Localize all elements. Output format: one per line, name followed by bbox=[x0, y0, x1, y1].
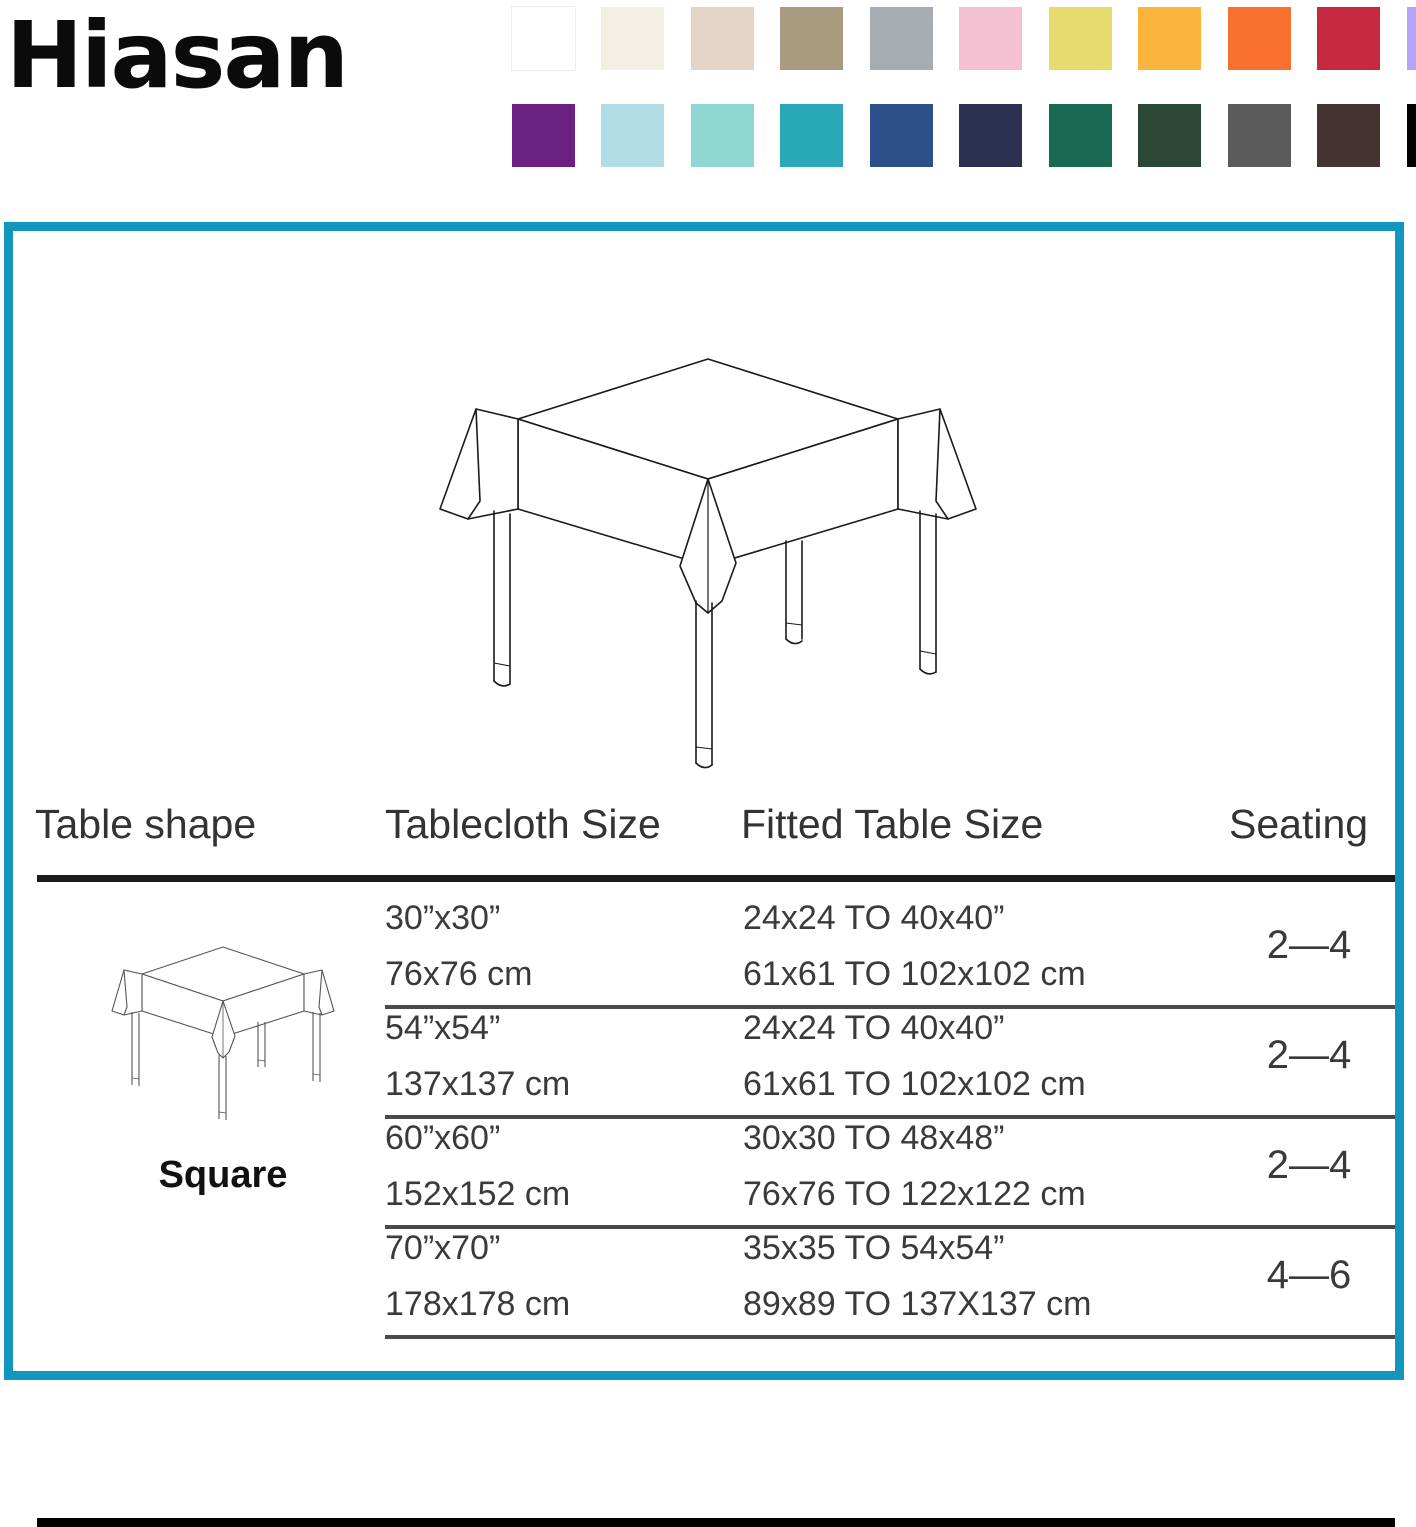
cell-fitted-size-cm: 89x89 TO 137X137 cm bbox=[743, 1285, 1091, 1324]
swatch-cream[interactable] bbox=[601, 7, 664, 70]
table-header-row: Table shape Tablecloth Size Fitted Table… bbox=[13, 801, 1395, 867]
cell-seating: 2—4 bbox=[1229, 1143, 1389, 1188]
column-header-table-shape: Table shape bbox=[35, 801, 256, 848]
table-row: 54”x54” 137x137 cm 24x24 TO 40x40” 61x61… bbox=[13, 1007, 1395, 1117]
color-swatch-grid bbox=[512, 7, 1412, 201]
brand-logo: Hiasan bbox=[6, 10, 347, 102]
column-header-seating: Seating bbox=[1229, 801, 1368, 848]
table-row: 60”x60” 152x152 cm 30x30 TO 48x48” 76x76… bbox=[13, 1117, 1395, 1227]
swatch-taupe[interactable] bbox=[780, 7, 843, 70]
table-bottom-divider bbox=[37, 1518, 1395, 1527]
swatch-forest-green[interactable] bbox=[1138, 104, 1201, 167]
swatch-light-blue[interactable] bbox=[601, 104, 664, 167]
column-header-fitted-table-size: Fitted Table Size bbox=[741, 801, 1043, 848]
swatch-yellow[interactable] bbox=[1049, 7, 1112, 70]
table-row: 30”x30” 76x76 cm 24x24 TO 40x40” 61x61 T… bbox=[13, 897, 1395, 1007]
row-divider bbox=[385, 1335, 1395, 1339]
cell-tablecloth-size-inches: 30”x30” bbox=[385, 899, 500, 938]
swatch-blue[interactable] bbox=[870, 104, 933, 167]
square-table-illustration bbox=[428, 351, 988, 811]
cell-seating: 4—6 bbox=[1229, 1253, 1389, 1298]
swatch-beige[interactable] bbox=[691, 7, 754, 70]
swatch-lavender[interactable] bbox=[1407, 7, 1416, 70]
table-row: 70”x70” 178x178 cm 35x35 TO 54x54” 89x89… bbox=[13, 1227, 1395, 1337]
cell-fitted-size-inches: 30x30 TO 48x48” bbox=[743, 1119, 1004, 1158]
cell-fitted-size-inches: 24x24 TO 40x40” bbox=[743, 1009, 1004, 1048]
swatch-row-1 bbox=[512, 7, 1412, 104]
cell-fitted-size-inches: 35x35 TO 54x54” bbox=[743, 1229, 1004, 1268]
cell-tablecloth-size-cm: 137x137 cm bbox=[385, 1065, 570, 1104]
swatch-dark-gray[interactable] bbox=[1228, 104, 1291, 167]
cell-fitted-size-inches: 24x24 TO 40x40” bbox=[743, 899, 1004, 938]
cell-fitted-size-cm: 61x61 TO 102x102 cm bbox=[743, 955, 1086, 994]
swatch-purple[interactable] bbox=[512, 104, 575, 167]
swatch-black[interactable] bbox=[1407, 104, 1416, 167]
swatch-orange[interactable] bbox=[1228, 7, 1291, 70]
cell-seating: 2—4 bbox=[1229, 923, 1389, 968]
cell-fitted-size-cm: 61x61 TO 102x102 cm bbox=[743, 1065, 1086, 1104]
header-divider bbox=[37, 875, 1395, 882]
cell-tablecloth-size-cm: 152x152 cm bbox=[385, 1175, 570, 1214]
swatch-navy[interactable] bbox=[959, 104, 1022, 167]
swatch-gray[interactable] bbox=[870, 7, 933, 70]
swatch-aqua[interactable] bbox=[691, 104, 754, 167]
cell-tablecloth-size-inches: 70”x70” bbox=[385, 1229, 500, 1268]
content-frame: Table shape Tablecloth Size Fitted Table… bbox=[4, 222, 1404, 1380]
swatch-amber[interactable] bbox=[1138, 7, 1201, 70]
cell-tablecloth-size-inches: 54”x54” bbox=[385, 1009, 500, 1048]
header-band: Hiasan bbox=[0, 0, 1416, 200]
swatch-emerald[interactable] bbox=[1049, 104, 1112, 167]
cell-tablecloth-size-cm: 76x76 cm bbox=[385, 955, 532, 994]
swatch-dark-brown[interactable] bbox=[1317, 104, 1380, 167]
column-header-tablecloth-size: Tablecloth Size bbox=[385, 801, 661, 848]
cell-tablecloth-size-inches: 60”x60” bbox=[385, 1119, 500, 1158]
cell-seating: 2—4 bbox=[1229, 1033, 1389, 1078]
swatch-white[interactable] bbox=[512, 7, 575, 70]
swatch-teal[interactable] bbox=[780, 104, 843, 167]
swatch-red[interactable] bbox=[1317, 7, 1380, 70]
swatch-pink[interactable] bbox=[959, 7, 1022, 70]
cell-fitted-size-cm: 76x76 TO 122x122 cm bbox=[743, 1175, 1086, 1214]
cell-tablecloth-size-cm: 178x178 cm bbox=[385, 1285, 570, 1324]
swatch-row-2 bbox=[512, 104, 1412, 201]
size-table: Table shape Tablecloth Size Fitted Table… bbox=[13, 801, 1395, 867]
